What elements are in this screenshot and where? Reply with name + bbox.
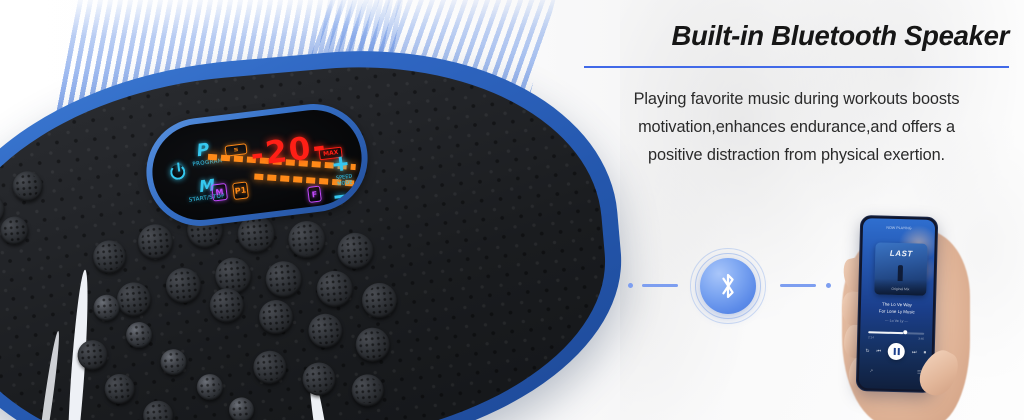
track-subtitle: For Lone Ly Music bbox=[861, 307, 933, 316]
track-info: The Lo Ve Way For Lone Ly Music — Lo Ve … bbox=[861, 300, 934, 324]
bluetooth-badge-core bbox=[700, 258, 756, 314]
connection-dot-right bbox=[826, 283, 831, 288]
pause-icon-bar bbox=[897, 348, 899, 355]
program-icon-aux[interactable]: F bbox=[307, 185, 322, 202]
program-icon-p1[interactable]: P1 bbox=[232, 181, 249, 200]
body-copy: Playing favorite music during workouts b… bbox=[584, 85, 1009, 169]
player-controls: ↻ ⏮ ⏭ ⏹ bbox=[860, 342, 932, 361]
bluetooth-icon bbox=[717, 270, 739, 302]
control-panel-display: P PROGRAM M START/STOP ≡ -20- MAX M P1 F… bbox=[147, 105, 367, 226]
next-icon[interactable]: ⏭ bbox=[912, 349, 917, 355]
bluetooth-connection-graphic bbox=[628, 232, 858, 352]
product-banner: P PROGRAM M START/STOP ≡ -20- MAX M P1 F… bbox=[0, 0, 1024, 420]
time-total: 3:46 bbox=[918, 336, 924, 340]
progress-knob[interactable] bbox=[903, 331, 907, 335]
progress-fill bbox=[868, 331, 903, 334]
shuffle-icon[interactable]: ↻ bbox=[865, 348, 869, 354]
page-title: Built-in Bluetooth Speaker bbox=[584, 20, 1009, 52]
progress-bar[interactable]: 2:14 3:46 bbox=[868, 331, 924, 340]
progress-track bbox=[868, 331, 924, 334]
body-line: positive distraction from physical exert… bbox=[584, 141, 1009, 169]
album-art: LAST Original Mix bbox=[874, 242, 927, 295]
increase-button[interactable] bbox=[333, 156, 349, 172]
album-title: LAST bbox=[875, 248, 927, 258]
previous-icon[interactable]: ⏮ bbox=[877, 348, 882, 354]
secondary-controls: ↗ ☰ bbox=[869, 368, 921, 375]
copy-block: Built-in Bluetooth Speaker Playing favor… bbox=[584, 20, 1009, 169]
bluetooth-badge bbox=[690, 248, 766, 324]
decrease-button[interactable] bbox=[334, 194, 347, 199]
title-divider bbox=[584, 66, 1009, 69]
play-pause-button[interactable] bbox=[888, 343, 905, 360]
repeat-icon[interactable]: ⏹ bbox=[924, 349, 927, 355]
time-labels: 2:14 3:46 bbox=[868, 335, 924, 340]
connection-dash-left bbox=[642, 284, 678, 287]
body-line: motivation,enhances endurance,and offers… bbox=[584, 113, 1009, 141]
plus-icon bbox=[338, 157, 343, 171]
plate-rubber-surface bbox=[0, 46, 619, 420]
pause-icon-bar bbox=[894, 348, 896, 355]
body-line: Playing favorite music during workouts b… bbox=[584, 85, 1009, 113]
track-artist: — Lo Ve Ly — bbox=[861, 318, 933, 324]
vibration-plate-product: P PROGRAM M START/STOP ≡ -20- MAX M P1 F… bbox=[0, 58, 650, 420]
connection-dot-left bbox=[628, 283, 633, 288]
time-elapsed: 2:14 bbox=[868, 335, 874, 339]
power-icon[interactable] bbox=[169, 164, 186, 181]
connection-dash-right bbox=[780, 284, 816, 287]
program-icon-mode[interactable]: M bbox=[211, 183, 228, 202]
share-icon[interactable]: ↗ bbox=[869, 368, 873, 374]
phone-in-hand: NOW PLAYING LAST Original Mix The Lo Ve … bbox=[836, 212, 986, 420]
